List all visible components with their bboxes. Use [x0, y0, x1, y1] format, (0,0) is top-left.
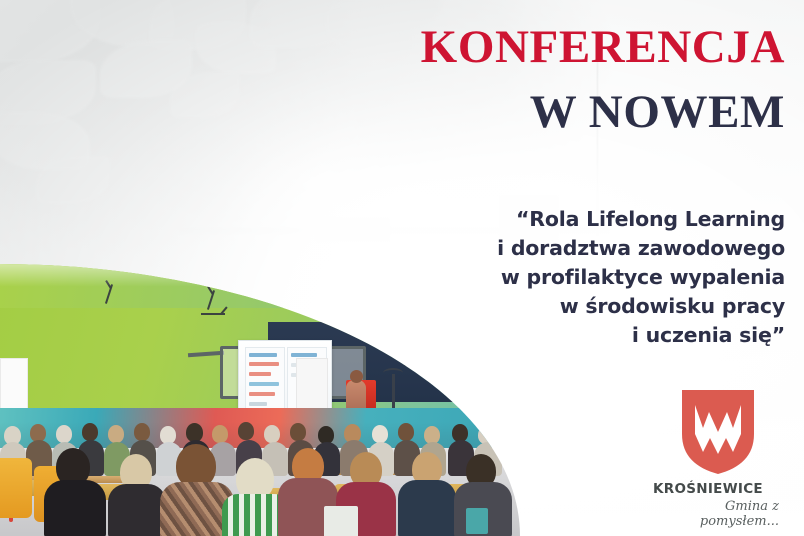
foreground-body [108, 484, 166, 536]
headline-line-1: KONFERENCJA [421, 24, 785, 71]
shield-icon [678, 388, 758, 476]
foreground-body [398, 480, 456, 536]
quote-line-2: i doradztwa zawodowego [445, 234, 785, 263]
wall-bar-icon [201, 313, 225, 315]
logo-town-name: KROŚNIEWICE [651, 481, 785, 497]
poster-subtitle-quote: “Rola Lifelong Learning i doradztwa zawo… [445, 205, 785, 351]
audience-head [82, 423, 98, 441]
krosniewice-logo: KROŚNIEWICE Gmina z pomysłem... [651, 388, 785, 516]
headline-line-2: W NOWEM [421, 89, 785, 136]
presenter-head [350, 370, 363, 383]
quote-line-1: “Rola Lifelong Learning [445, 205, 785, 234]
audience-head [108, 425, 124, 443]
audience-head [372, 425, 388, 443]
slide-column-left [245, 347, 285, 417]
orange-seat [0, 458, 32, 518]
audience-head [398, 423, 414, 441]
tote-bag [466, 508, 488, 534]
foreground-body [44, 480, 106, 536]
audience-head [264, 425, 280, 443]
conference-poster: KONFERENCJA W NOWEM “Rola Lifelong Learn… [0, 0, 804, 536]
poster-headline: KONFERENCJA W NOWEM [421, 24, 785, 136]
tote-bag [324, 506, 358, 536]
shield-wrap [651, 388, 785, 476]
audience-head [134, 423, 150, 441]
quote-line-4: w środowisku pracy [445, 292, 785, 321]
audience-head [212, 425, 228, 443]
logo-tagline: Gmina z pomysłem... [651, 499, 785, 529]
audience-head [56, 425, 72, 443]
audience-head [238, 422, 254, 440]
quote-line-5: i uczenia się” [445, 321, 785, 350]
audience-head [290, 423, 306, 441]
quote-line-3: w profilaktyce wypalenia [445, 263, 785, 292]
